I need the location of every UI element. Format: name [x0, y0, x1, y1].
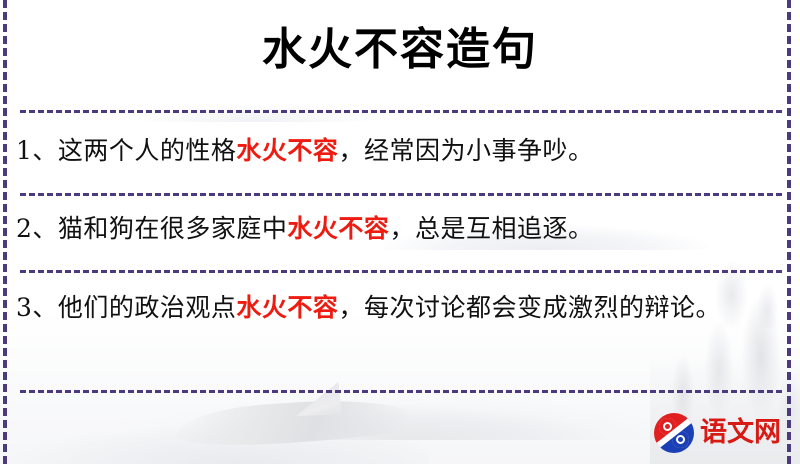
- sentence-after: ，总是互相追逐。: [389, 214, 593, 243]
- logo-band: [654, 416, 694, 450]
- divider-3: [20, 270, 782, 273]
- sentence-after: ，经常因为小事争吵。: [338, 136, 593, 165]
- content-area: 水火不容造句 1、这两个人的性格水火不容，经常因为小事争吵。 2、猫和狗在很多家…: [0, 0, 800, 464]
- sentence-number: 2、: [16, 214, 58, 243]
- keyword-idiom: 水火不容: [236, 293, 338, 322]
- page-title: 水火不容造句: [0, 22, 800, 78]
- sentence-item: 2、猫和狗在很多家庭中水火不容，总是互相追逐。: [16, 209, 778, 249]
- logo-dot-blue: [678, 437, 683, 442]
- page-root: 水火不容造句 1、这两个人的性格水火不容，经常因为小事争吵。 2、猫和狗在很多家…: [0, 0, 800, 464]
- sentence-item: 3、他们的政治观点水火不容，每次讨论都会变成激烈的辩论。: [16, 288, 778, 328]
- divider-2: [20, 193, 782, 196]
- sentence-before: 他们的政治观点: [58, 293, 237, 322]
- divider-1: [20, 110, 782, 113]
- divider-4: [20, 390, 782, 393]
- sentence-item: 1、这两个人的性格水火不容，经常因为小事争吵。: [16, 131, 778, 171]
- yuwen-circle-logo-icon: [654, 413, 694, 453]
- sentence-before: 猫和狗在很多家庭中: [58, 214, 288, 243]
- site-logo[interactable]: 语文网: [654, 411, 782, 455]
- site-logo-text: 语文网: [700, 418, 781, 448]
- sentence-before: 这两个人的性格: [58, 136, 237, 165]
- left-dashed-border: [3, 0, 7, 464]
- right-dashed-border: [787, 0, 791, 464]
- keyword-idiom: 水火不容: [236, 136, 338, 165]
- keyword-idiom: 水火不容: [287, 214, 389, 243]
- sentence-number: 3、: [16, 293, 58, 322]
- logo-dot-red: [665, 424, 670, 429]
- sentence-number: 1、: [16, 136, 58, 165]
- sentence-after: ，每次讨论都会变成激烈的辩论。: [338, 293, 721, 322]
